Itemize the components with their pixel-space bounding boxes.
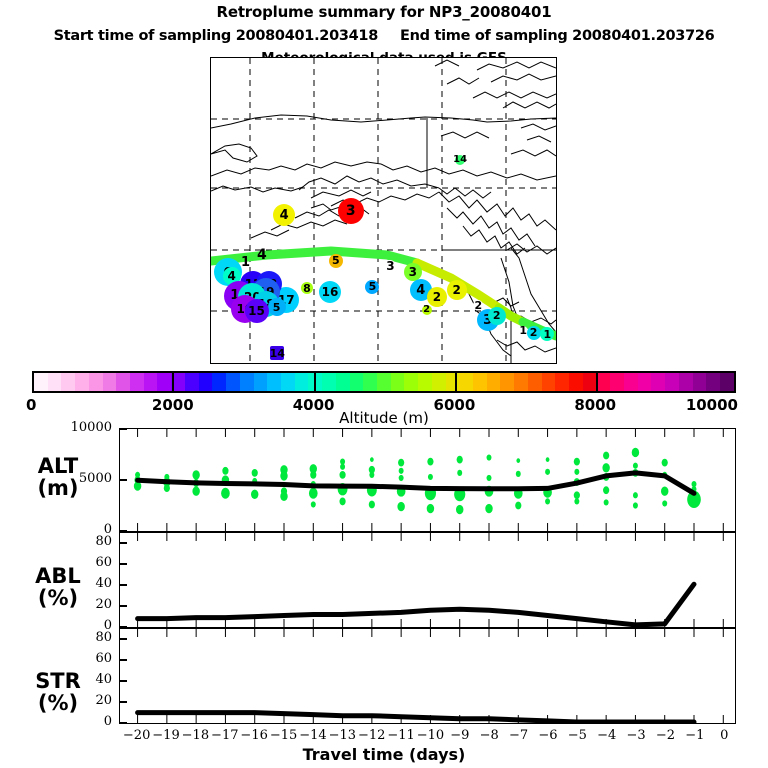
str-graphics [120,629,735,723]
colorbar-segment [487,373,501,391]
map-marker[interactable]: 5 [268,298,286,316]
y-axis-tick: 40 [50,576,112,591]
colorbar-segment [459,373,473,391]
colorbar-segment [432,373,446,391]
colorbar-segment [583,373,597,391]
y-tick-mark [119,563,127,565]
colorbar-segment [336,373,350,391]
y-axis-tick: 20 [50,597,112,612]
colorbar-segment [157,373,171,391]
colorbar-divider [596,371,598,393]
colorbar-segment [226,373,240,391]
map-marker[interactable]: 3 [404,263,422,281]
colorbar-segment [48,373,62,391]
y-axis-tick: 0 [50,714,112,729]
y-axis-tick: 80 [50,630,112,645]
colorbar-segment [350,373,364,391]
colorbar-segment [34,373,48,391]
colorbar-divider [455,371,457,393]
colorbar-segment [596,373,610,391]
colorbar-segment [720,373,734,391]
y-tick-mark [119,530,127,532]
colorbar-caption: Altitude (m) [0,409,768,427]
alt-panel[interactable] [119,428,736,532]
y-axis-tick: 60 [50,651,112,666]
abl-graphics [120,533,735,627]
colorbar-segment [199,373,213,391]
y-axis-tick: 80 [50,534,112,549]
colorbar-segment [281,373,295,391]
colorbar-segment [103,373,117,391]
colorbar-segment [130,373,144,391]
y-tick-mark [119,542,127,544]
y-axis-tick: 40 [50,672,112,687]
map-marker[interactable]: 2 [527,326,541,340]
track-label: 4 [257,248,267,262]
colorbar-segment [610,373,624,391]
colorbar-segment [638,373,652,391]
y-tick-mark [119,659,127,661]
y-tick-mark [119,605,127,607]
y-tick-mark [119,428,127,430]
colorbar-segment [624,373,638,391]
y-axis-tick: 5000 [50,471,112,486]
colorbar-segment [377,373,391,391]
colorbar-segment [363,373,377,391]
start-time-label: Start time of sampling 20080401.203418 [54,28,378,44]
colorbar-segment [693,373,707,391]
colorbar-segment [295,373,309,391]
colorbar-segment [528,373,542,391]
y-axis-tick: 20 [50,693,112,708]
colorbar-segment [89,373,103,391]
y-tick-mark [119,584,127,586]
colorbar-segment [185,373,199,391]
colorbar-segment [706,373,720,391]
colorbar-divider [314,371,316,393]
alt-graphics [120,429,735,531]
sampling-times: Start time of sampling 20080401.203418 E… [0,28,768,44]
retroplume-map[interactable]: 4 1 431453322321214225168176412131911201… [210,57,557,364]
colorbar-segment [254,373,268,391]
map-marker[interactable]: 5 [329,254,343,268]
colorbar-segment [514,373,528,391]
map-marker[interactable]: 14 [270,346,284,360]
colorbar-segment [267,373,281,391]
colorbar-segment [665,373,679,391]
alt-mean-line [138,473,694,493]
map-marker[interactable]: 3 [338,198,364,224]
colorbar-segment [651,373,665,391]
colorbar-segment [569,373,583,391]
colorbar-segment [240,373,254,391]
map-marker[interactable]: 14 [455,155,465,165]
abl-mean-line [138,584,694,625]
page-title: Retroplume summary for NP3_20080401 [0,3,768,21]
str-mean-line [138,713,694,722]
y-tick-mark [119,479,127,481]
y-tick-mark [119,626,127,628]
colorbar-segment [404,373,418,391]
colorbar-segment [391,373,405,391]
y-tick-mark [119,638,127,640]
colorbar-segment [679,373,693,391]
track-label: 1 [241,256,250,269]
map-marker[interactable]: 2 [473,300,483,310]
y-tick-mark [119,701,127,703]
map-marker[interactable]: 2 [447,280,467,300]
colorbar-segment [542,373,556,391]
colorbar-segment [116,373,130,391]
y-tick-mark [119,680,127,682]
colorbar-segment [555,373,569,391]
colorbar-segment [446,373,460,391]
colorbar-segment [144,373,158,391]
y-axis-tick: 10000 [50,420,112,435]
abl-panel[interactable] [119,532,736,628]
colorbar-segment [75,373,89,391]
colorbar-segment [500,373,514,391]
y-tick-mark [119,722,127,724]
map-marker[interactable]: 2 [488,307,506,325]
end-time-label: End time of sampling 20080401.203726 [400,28,714,44]
str-panel[interactable] [119,628,736,724]
colorbar-segment [212,373,226,391]
map-marker[interactable]: 15 [245,299,269,323]
x-axis-caption: Travel time (days) [0,745,768,764]
x-axis-tick: 0 [704,728,744,743]
map-marker[interactable]: 2 [422,305,432,315]
colorbar-segment [473,373,487,391]
colorbar-segment [322,373,336,391]
colorbar-divider [172,371,174,393]
colorbar-segment [418,373,432,391]
colorbar-segment [61,373,75,391]
altitude-colorbar[interactable] [32,371,736,393]
y-axis-tick: 60 [50,555,112,570]
